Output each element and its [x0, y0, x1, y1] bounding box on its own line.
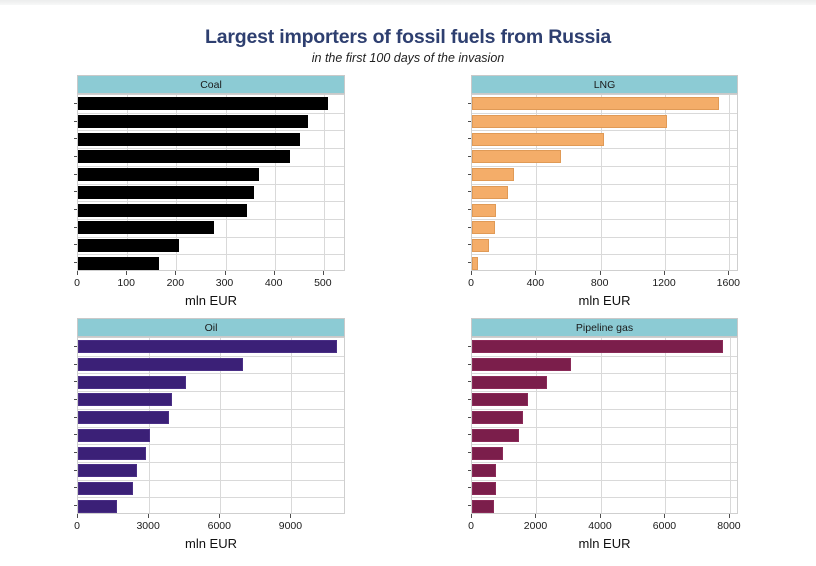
x-axis-tick-label: 6000: [189, 520, 249, 532]
x-axis-tick: [219, 514, 220, 518]
y-axis-tick: [74, 434, 77, 435]
x-axis-tick-label: 400: [505, 277, 565, 289]
page-subtitle: in the first 100 days of the invasion: [0, 51, 816, 66]
x-axis-tick: [77, 271, 78, 275]
x-axis-tick: [600, 271, 601, 275]
facet-strip-label: LNG: [594, 79, 616, 91]
x-axis-tick-label: 1600: [698, 277, 758, 289]
bar: [78, 482, 133, 495]
facet-strip-label: Coal: [200, 79, 222, 91]
y-axis-tick: [468, 505, 471, 506]
x-axis-tick: [471, 271, 472, 275]
y-axis-tick: [74, 191, 77, 192]
grid-row-line: [78, 391, 344, 392]
x-axis-tick-label: 4000: [570, 520, 630, 532]
x-axis-tick-label: 1200: [634, 277, 694, 289]
grid-row-line: [472, 219, 737, 220]
x-axis-title: mln EUR: [77, 293, 345, 308]
bar: [78, 168, 259, 181]
y-axis-tick: [468, 103, 471, 104]
x-axis-tick: [290, 514, 291, 518]
y-axis-tick: [468, 434, 471, 435]
grid-row-line: [472, 497, 737, 498]
bar: [78, 429, 150, 442]
x-axis-tick: [664, 514, 665, 518]
x-axis-title: mln EUR: [77, 536, 345, 551]
grid-row-line: [472, 373, 737, 374]
bar: [472, 376, 547, 389]
y-axis-tick: [468, 262, 471, 263]
bar: [472, 221, 495, 234]
grid-line: [291, 338, 292, 513]
y-axis-tick: [74, 121, 77, 122]
bar: [78, 500, 117, 513]
bar: [472, 411, 523, 424]
y-axis-tick: [74, 487, 77, 488]
grid-row-line: [78, 148, 344, 149]
x-axis-tick: [225, 271, 226, 275]
bar: [472, 150, 561, 163]
grid-row-line: [78, 166, 344, 167]
y-axis-tick: [468, 174, 471, 175]
y-axis-tick: [468, 399, 471, 400]
bar: [472, 393, 528, 406]
y-axis-tick: [74, 103, 77, 104]
y-axis-tick: [74, 417, 77, 418]
bar: [78, 133, 300, 146]
y-axis-tick: [74, 209, 77, 210]
bar: [78, 257, 159, 270]
bar: [472, 429, 519, 442]
grid-line: [324, 95, 325, 270]
x-axis-tick: [274, 271, 275, 275]
bar: [472, 133, 604, 146]
grid-row-line: [78, 254, 344, 255]
y-axis-tick: [468, 364, 471, 365]
grid-row-line: [472, 462, 737, 463]
grid-row-line: [78, 201, 344, 202]
grid-row-line: [78, 480, 344, 481]
grid-line: [730, 338, 731, 513]
grid-row-line: [78, 427, 344, 428]
grid-row-line: [78, 356, 344, 357]
grid-row-line: [78, 444, 344, 445]
plot-area-coal: [77, 94, 345, 271]
y-axis-tick: [74, 346, 77, 347]
x-axis-title: mln EUR: [471, 536, 738, 551]
x-axis-tick-label: 0: [441, 277, 501, 289]
bar: [78, 411, 169, 424]
grid-row-line: [78, 497, 344, 498]
x-axis-tick-label: 8000: [699, 520, 759, 532]
y-axis-tick: [74, 138, 77, 139]
y-axis-tick: [468, 227, 471, 228]
x-axis-tick-label: 6000: [634, 520, 694, 532]
y-axis-tick: [74, 505, 77, 506]
facet-strip-label: Pipeline gas: [576, 322, 633, 334]
y-axis-tick: [74, 470, 77, 471]
y-axis-tick: [468, 244, 471, 245]
plot-area-lng: [471, 94, 738, 271]
chart-header: Largest importers of fossil fuels from R…: [0, 26, 816, 66]
x-axis-tick-label: 500: [293, 277, 353, 289]
y-axis-tick: [74, 399, 77, 400]
y-axis-tick: [74, 262, 77, 263]
facet-strip-label: Oil: [205, 322, 218, 334]
plot-area-gas: [471, 337, 738, 514]
x-axis-tick: [148, 514, 149, 518]
grid-row-line: [472, 427, 737, 428]
grid-line: [665, 338, 666, 513]
plot-area-oil: [77, 337, 345, 514]
x-axis-tick: [728, 271, 729, 275]
y-axis-tick: [74, 244, 77, 245]
y-axis-tick: [468, 452, 471, 453]
grid-row-line: [472, 391, 737, 392]
bar: [78, 393, 172, 406]
top-band: [0, 0, 816, 5]
y-axis-tick: [468, 121, 471, 122]
grid-row-line: [472, 254, 737, 255]
bar: [472, 447, 503, 460]
y-axis-tick: [468, 209, 471, 210]
grid-row-line: [78, 373, 344, 374]
facet-strip-gas: Pipeline gas: [471, 318, 738, 337]
grid-row-line: [472, 113, 737, 114]
bar: [472, 168, 514, 181]
y-axis-tick: [74, 452, 77, 453]
bar: [78, 150, 290, 163]
y-axis-tick: [468, 417, 471, 418]
x-axis-tick-label: 2000: [505, 520, 565, 532]
bar: [78, 115, 308, 128]
grid-row-line: [472, 148, 737, 149]
bar: [472, 340, 723, 353]
x-axis-tick: [535, 271, 536, 275]
grid-row-line: [472, 166, 737, 167]
bar: [472, 97, 719, 110]
y-axis-tick: [468, 487, 471, 488]
y-axis-tick: [468, 191, 471, 192]
y-axis-tick: [468, 381, 471, 382]
bar: [472, 358, 571, 371]
bar: [472, 500, 494, 513]
bar: [78, 376, 186, 389]
bar: [78, 239, 179, 252]
bar: [78, 221, 214, 234]
bar: [472, 239, 489, 252]
x-axis-tick: [471, 514, 472, 518]
x-axis-tick: [535, 514, 536, 518]
bar: [78, 358, 243, 371]
bar: [78, 204, 247, 217]
bar: [472, 257, 478, 270]
grid-row-line: [472, 184, 737, 185]
y-axis-tick: [74, 381, 77, 382]
y-axis-tick: [468, 156, 471, 157]
x-axis-tick: [126, 271, 127, 275]
x-axis-tick-label: 0: [47, 520, 107, 532]
x-axis-tick-label: 3000: [118, 520, 178, 532]
grid-row-line: [78, 130, 344, 131]
bar: [78, 186, 254, 199]
x-axis-tick-label: 9000: [260, 520, 320, 532]
bar: [78, 97, 328, 110]
facet-strip-lng: LNG: [471, 75, 738, 94]
grid-row-line: [78, 219, 344, 220]
grid-row-line: [78, 113, 344, 114]
x-axis-tick: [175, 271, 176, 275]
grid-row-line: [472, 409, 737, 410]
bar: [472, 464, 496, 477]
bar: [472, 115, 667, 128]
bar: [472, 482, 496, 495]
grid-row-line: [472, 130, 737, 131]
y-axis-tick: [74, 364, 77, 365]
grid-row-line: [472, 356, 737, 357]
y-axis-tick: [468, 470, 471, 471]
bar: [78, 464, 137, 477]
x-axis-tick-label: 800: [570, 277, 630, 289]
grid-row-line: [78, 409, 344, 410]
bar: [472, 204, 496, 217]
grid-row-line: [472, 201, 737, 202]
grid-line: [601, 338, 602, 513]
page-title: Largest importers of fossil fuels from R…: [0, 26, 816, 48]
grid-row-line: [472, 480, 737, 481]
grid-row-line: [78, 184, 344, 185]
grid-row-line: [472, 237, 737, 238]
bar: [472, 186, 508, 199]
grid-line: [729, 95, 730, 270]
grid-row-line: [472, 444, 737, 445]
bar: [78, 447, 146, 460]
grid-row-line: [78, 237, 344, 238]
x-axis-tick: [664, 271, 665, 275]
y-axis-tick: [468, 346, 471, 347]
grid-row-line: [78, 462, 344, 463]
bar: [78, 340, 337, 353]
y-axis-tick: [74, 174, 77, 175]
x-axis-tick: [600, 514, 601, 518]
facet-strip-oil: Oil: [77, 318, 345, 337]
x-axis-tick: [729, 514, 730, 518]
y-axis-tick: [74, 156, 77, 157]
x-axis-tick: [77, 514, 78, 518]
x-axis-tick: [323, 271, 324, 275]
y-axis-tick: [74, 227, 77, 228]
y-axis-tick: [468, 138, 471, 139]
x-axis-tick-label: 0: [441, 520, 501, 532]
facet-strip-coal: Coal: [77, 75, 345, 94]
x-axis-title: mln EUR: [471, 293, 738, 308]
